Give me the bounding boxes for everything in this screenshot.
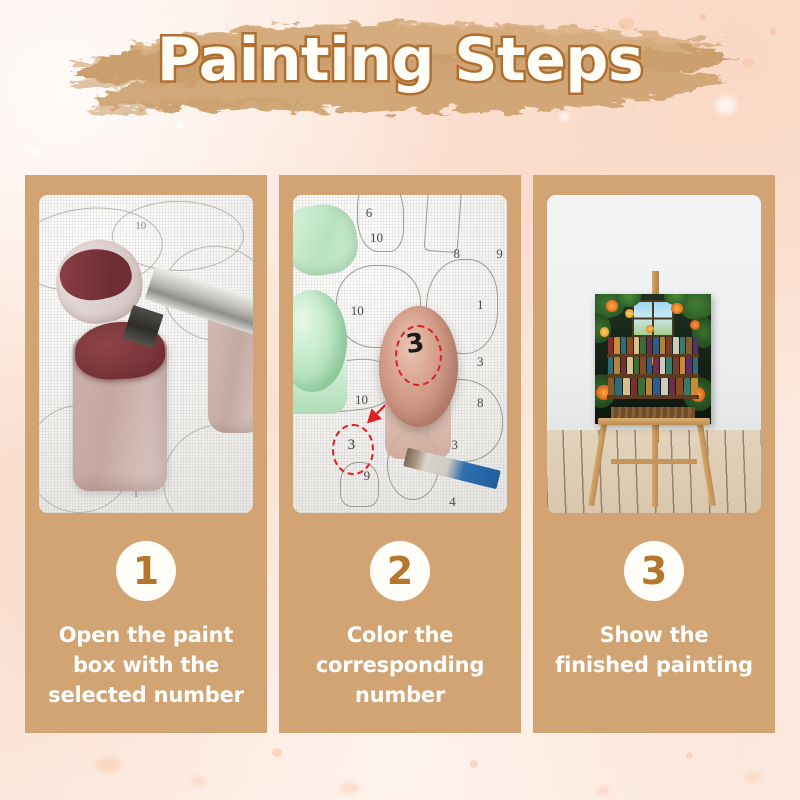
step-card-1[interactable]: 10 1 1 Open the paint box with the selec… (25, 175, 267, 733)
canvas-number: 8 (454, 246, 461, 262)
step-caption-2: Color the corresponding number (298, 621, 503, 710)
finished-canvas-artwork (595, 294, 711, 424)
canvas-number: 3 (451, 437, 458, 453)
step-card-3[interactable]: 3 Show the finished painting (533, 175, 775, 733)
canvas-number: 8 (477, 395, 484, 411)
numbered-paint-pot-photo: 6 10 8 9 10 1 3 10 8 1 3 9 4 3 (293, 195, 507, 513)
canvas-number: 6 (366, 205, 373, 221)
page-title: Painting Steps (0, 26, 800, 95)
easel-tray (598, 418, 709, 425)
canvas-number: 1 (477, 297, 484, 313)
canvas-number: 4 (449, 494, 456, 510)
canvas-number: 9 (496, 246, 503, 262)
step-badge-1: 1 (116, 541, 176, 601)
step-caption-1: Open the paint box with the selected num… (44, 621, 249, 710)
step-badge-2: 2 (370, 541, 430, 601)
easel-cross-rail (611, 459, 697, 464)
canvas-number: 10 (351, 303, 364, 319)
canvas-number: 3 (477, 354, 484, 370)
steps-container: 10 1 1 Open the paint box with the selec… (25, 175, 775, 733)
canvas-number: 10 (370, 230, 383, 246)
paint-pot-with-brush-photo: 10 1 (39, 195, 253, 513)
artwork-shelf (607, 395, 699, 399)
step-caption-3: Show the finished painting (552, 621, 757, 681)
step-card-2[interactable]: 6 10 8 9 10 1 3 10 8 1 3 9 4 3 (279, 175, 521, 733)
canvas-number: 10 (135, 220, 146, 232)
canvas-target-number: 3 (348, 437, 356, 454)
finished-painting-on-easel-photo (547, 195, 761, 513)
page-root: Painting Steps 10 1 1 O (0, 0, 800, 800)
step-badge-3: 3 (624, 541, 684, 601)
